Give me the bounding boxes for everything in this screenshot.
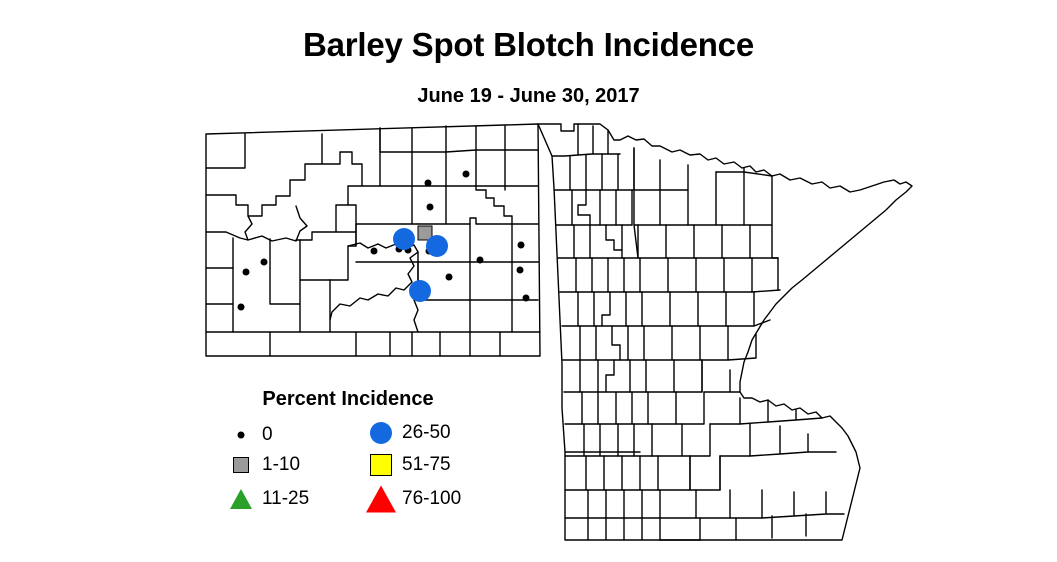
map-marker-0 bbox=[371, 248, 378, 255]
legend: Percent Incidence 0 1-10 11-25 26-50 51-… bbox=[218, 388, 508, 528]
map-marker-0 bbox=[517, 267, 524, 274]
map-marker-0 bbox=[427, 204, 434, 211]
legend-item-label: 51-75 bbox=[402, 450, 451, 480]
legend-item-label: 11-25 bbox=[262, 484, 309, 514]
map-marker-26-50 bbox=[426, 235, 448, 257]
blue-circle-icon bbox=[364, 418, 398, 448]
map-figure bbox=[0, 0, 1057, 562]
map-marker-0 bbox=[477, 257, 484, 264]
gray-square-icon bbox=[224, 450, 258, 480]
map-marker-0 bbox=[238, 304, 245, 311]
data-point-layer bbox=[0, 0, 1057, 562]
map-marker-0 bbox=[425, 180, 432, 187]
map-marker-26-50 bbox=[393, 228, 415, 250]
chart-canvas: Barley Spot Blotch Incidence June 19 - J… bbox=[0, 0, 1057, 562]
legend-item-label: 1-10 bbox=[262, 450, 300, 480]
map-marker-0 bbox=[446, 274, 453, 281]
legend-item-label: 76-100 bbox=[402, 484, 461, 514]
small-black-dot-icon bbox=[224, 420, 258, 450]
map-marker-0 bbox=[463, 171, 470, 178]
yellow-square-icon bbox=[364, 450, 398, 480]
green-triangle-icon bbox=[224, 484, 258, 514]
map-marker-0 bbox=[518, 242, 525, 249]
legend-item-label: 26-50 bbox=[402, 418, 451, 448]
map-marker-26-50 bbox=[409, 280, 431, 302]
map-marker-0 bbox=[243, 269, 250, 276]
legend-item-label: 0 bbox=[262, 420, 273, 450]
legend-title: Percent Incidence bbox=[218, 388, 478, 411]
map-marker-0 bbox=[523, 295, 530, 302]
red-triangle-icon bbox=[364, 484, 398, 514]
map-marker-0 bbox=[261, 259, 268, 266]
